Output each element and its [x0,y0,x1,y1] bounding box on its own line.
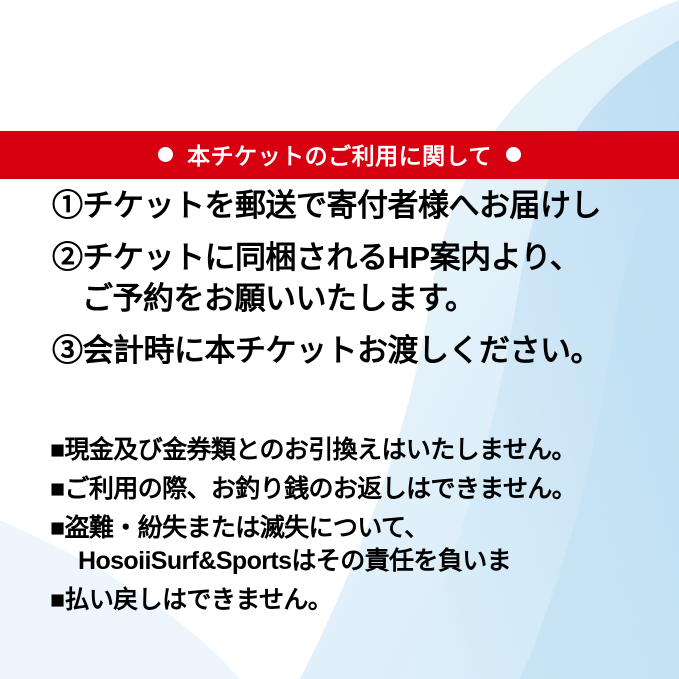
note-item-3: ■盗難・紛失または滅失について、 HosoiiSurf&Sportsはその責任を… [0,512,679,578]
instruction-item-2-text: ②チケットに同梱されるHP案内より、 [52,240,580,275]
note-item-4: ■払い戻しはできません。 [0,584,679,617]
note-item-1-text: ■現金及び金券類とのお引換えはいたしません。 [50,436,576,464]
section-header-title: 本チケットのご利用に関して [187,137,492,171]
bullet-dot-right-icon [506,147,521,162]
note-item-1: ■現金及び金券類とのお引換えはいたしません。 [0,434,679,467]
instruction-item-2: ②チケットに同梱されるHP案内より、 ご予約をお願いいたします。 [0,238,679,319]
note-item-4-text: ■払い戻しはできません。 [50,586,332,614]
note-list: ■現金及び金券類とのお引換えはいたしません。 ■ご利用の際、お釣り銭のお返しはで… [0,434,679,617]
instruction-item-1: ①チケットを郵送で寄付者様へお届けし [0,186,679,226]
instruction-item-3: ③会計時に本チケットお渡しください。 [0,331,679,371]
ticket-notice-page: 本チケットのご利用に関して ①チケットを郵送で寄付者様へお届けし ②チケットに同… [0,0,679,679]
bullet-dot-left-icon [158,147,173,162]
section-header-inner: 本チケットのご利用に関して [158,137,521,171]
instruction-item-1-text: ①チケットを郵送で寄付者様へお届けし [52,188,601,223]
note-item-2-text: ■ご利用の際、お釣り銭のお返しはできません。 [50,475,576,503]
instruction-list: ①チケットを郵送で寄付者様へお届けし ②チケットに同梱されるHP案内より、 ご予… [0,186,679,371]
instruction-item-2-line2: ご予約をお願いいたします。 [52,279,679,319]
note-item-3-text: ■盗難・紛失または滅失について、 [50,514,429,542]
note-item-2: ■ご利用の際、お釣り銭のお返しはできません。 [0,473,679,506]
section-header-band: 本チケットのご利用に関して [0,131,679,179]
instruction-item-3-text: ③会計時に本チケットお渡しください。 [52,333,601,368]
note-item-3-continuation: HosoiiSurf&Sportsはその責任を負いま [50,545,679,578]
